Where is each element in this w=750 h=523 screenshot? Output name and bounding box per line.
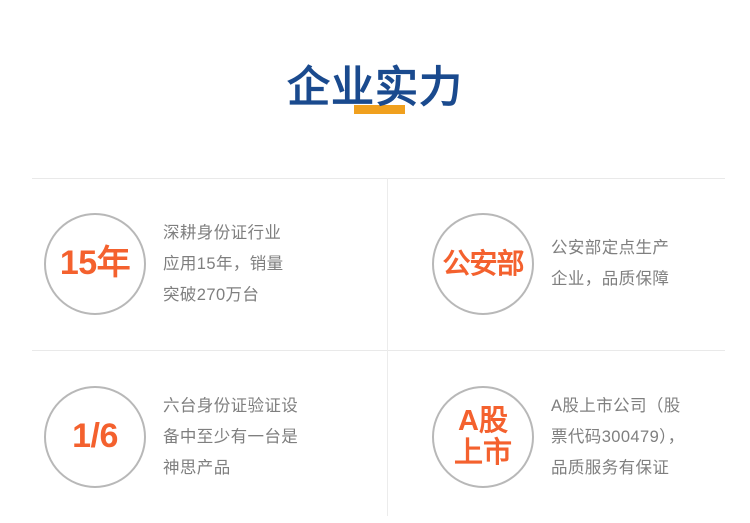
- feature-badge-label: 15年: [60, 246, 130, 282]
- feature-description-line: 深耕身份证行业: [163, 218, 365, 249]
- feature-cell-ministry-public-security: 公安部 公安部定点生产 企业，品质保障: [388, 178, 750, 350]
- feature-description: 公安部定点生产 企业，品质保障: [551, 233, 750, 295]
- feature-description-line: 公安部定点生产: [551, 233, 750, 264]
- page-title-container: 企业实力: [0, 62, 750, 122]
- feature-description-line: A股上市公司（股: [551, 391, 750, 422]
- feature-description: 深耕身份证行业 应用15年，销量 突破270万台: [163, 218, 365, 311]
- feature-description-line: 应用15年，销量: [163, 249, 365, 280]
- page-title-text: 企业实力: [287, 64, 463, 112]
- feature-badge-circle: 公安部: [432, 213, 534, 315]
- feature-badge-circle: A股 上市: [432, 386, 534, 488]
- features-grid: 15年 深耕身份证行业 应用15年，销量 突破270万台 公安部 公安部定点生产…: [0, 178, 750, 516]
- feature-description-line: 备中至少有一台是: [163, 422, 365, 453]
- feature-badge-label: 1/6: [72, 419, 118, 455]
- feature-cell-a-share-listed: A股 上市 A股上市公司（股 票代码300479）， 品质服务有保证: [388, 351, 750, 523]
- feature-description-line: 企业，品质保障: [551, 264, 750, 295]
- feature-badge-label: A股 上市: [454, 405, 512, 470]
- feature-cell-one-in-six: 1/6 六台身份证验证设 备中至少有一台是 神思产品: [0, 351, 375, 523]
- feature-badge-circle: 15年: [44, 213, 146, 315]
- feature-badge-label: 公安部: [442, 249, 523, 278]
- feature-description-line: 六台身份证验证设: [163, 391, 365, 422]
- page-title: 企业实力: [287, 62, 463, 114]
- feature-description: 六台身份证验证设 备中至少有一台是 神思产品: [163, 391, 365, 484]
- feature-description: A股上市公司（股 票代码300479）， 品质服务有保证: [551, 391, 750, 484]
- feature-description-line: 票代码300479），: [551, 422, 750, 453]
- feature-description-line: 突破270万台: [163, 280, 365, 311]
- feature-description-line: 神思产品: [163, 453, 365, 484]
- feature-description-line: 品质服务有保证: [551, 453, 750, 484]
- feature-badge-circle: 1/6: [44, 386, 146, 488]
- feature-cell-15-years: 15年 深耕身份证行业 应用15年，销量 突破270万台: [0, 178, 375, 350]
